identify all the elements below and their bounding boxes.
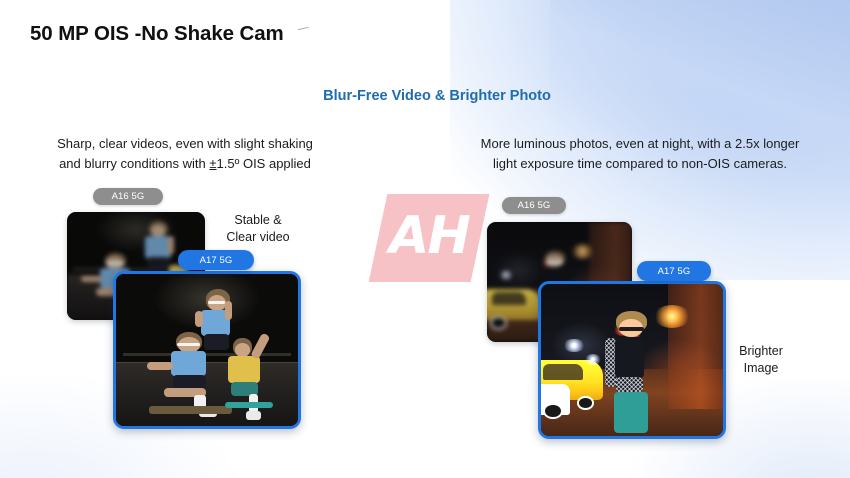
- right-before-badge[interactable]: A16 5G: [502, 197, 566, 214]
- left-before-badge[interactable]: A16 5G: [93, 188, 163, 205]
- street-lamp: [654, 305, 690, 328]
- slide-subtitle: Blur-Free Video & Brighter Photo: [0, 88, 850, 104]
- left-after-photo[interactable]: [113, 271, 301, 429]
- right-after-photo[interactable]: [538, 281, 726, 439]
- title-accent-tick: [298, 27, 310, 33]
- watermark-plate: [369, 194, 490, 282]
- skateboard-deck: [149, 406, 233, 414]
- right-after-badge[interactable]: A17 5G: [637, 261, 711, 281]
- car-wheel: [490, 316, 507, 330]
- slide-canvas: 50 MP OIS -No Shake Cam Blur-Free Video …: [0, 0, 850, 478]
- left-column-body-text: Sharp, clear videos, even with slight sh…: [10, 134, 360, 174]
- car-wheel: [543, 403, 563, 420]
- page-title: 50 MP OIS -No Shake Cam: [30, 22, 284, 46]
- ah-watermark: AH: [378, 194, 480, 282]
- right-body-line-1: More luminous photos, even at night, wit…: [440, 134, 840, 154]
- left-body-line-2: and blurry conditions with ±1.5º OIS app…: [10, 154, 360, 174]
- right-caption: Brighter Image: [720, 343, 802, 377]
- right-column-body-text: More luminous photos, even at night, wit…: [440, 134, 840, 174]
- window-light: [563, 339, 585, 353]
- right-body-line-2: light exposure time compared to non-OIS …: [440, 154, 840, 174]
- plus-minus-symbol: ±: [209, 156, 216, 171]
- right-caption-line-1: Brighter: [720, 343, 802, 360]
- right-caption-line-2: Image: [720, 360, 802, 377]
- left-body-line-2-pre: and blurry conditions with: [59, 156, 209, 171]
- left-caption: Stable & Clear video: [210, 212, 306, 246]
- left-body-line-1: Sharp, clear videos, even with slight sh…: [10, 134, 360, 154]
- left-caption-line-2: Clear video: [210, 229, 306, 246]
- left-after-scene: [116, 274, 298, 426]
- window-light: [499, 270, 514, 280]
- left-after-badge[interactable]: A17 5G: [178, 250, 254, 270]
- right-after-scene: [541, 284, 723, 436]
- mesh-midriff: [616, 377, 643, 393]
- watermark-text: AH: [378, 194, 480, 282]
- left-body-line-2-post: 1.5º OIS applied: [217, 156, 311, 171]
- teal-trousers: [614, 392, 648, 433]
- left-caption-line-1: Stable &: [210, 212, 306, 229]
- black-vest: [615, 337, 644, 378]
- car-wheel-2: [577, 396, 593, 410]
- window-light-2: [585, 354, 601, 365]
- building-right: [668, 284, 723, 409]
- skateboard-deck-2: [225, 402, 272, 408]
- figure-subject: [603, 311, 658, 433]
